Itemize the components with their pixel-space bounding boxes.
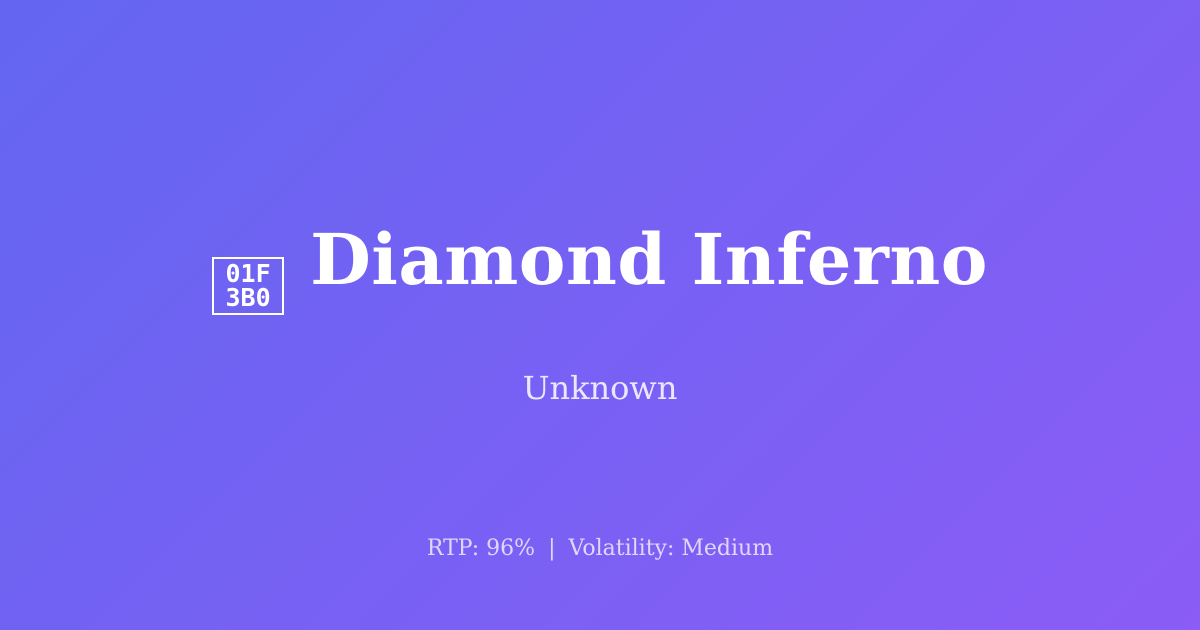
slot-machine-icon-codepoint-lower: 3B0 bbox=[225, 286, 270, 310]
provider-name: Unknown bbox=[523, 369, 678, 407]
game-og-card: 01F 3B0 Diamond Inferno Unknown RTP: 96%… bbox=[0, 0, 1200, 630]
game-meta: RTP: 96% | Volatility: Medium bbox=[0, 535, 1200, 564]
title-row: 01F 3B0 Diamond Inferno bbox=[0, 223, 1200, 317]
rtp-label: RTP: 96% bbox=[427, 536, 535, 561]
volatility-label: Volatility: Medium bbox=[569, 536, 774, 561]
meta-separator: | bbox=[542, 536, 561, 561]
slot-machine-icon: 01F 3B0 bbox=[212, 257, 284, 315]
page-title: Diamond Inferno bbox=[310, 223, 988, 297]
